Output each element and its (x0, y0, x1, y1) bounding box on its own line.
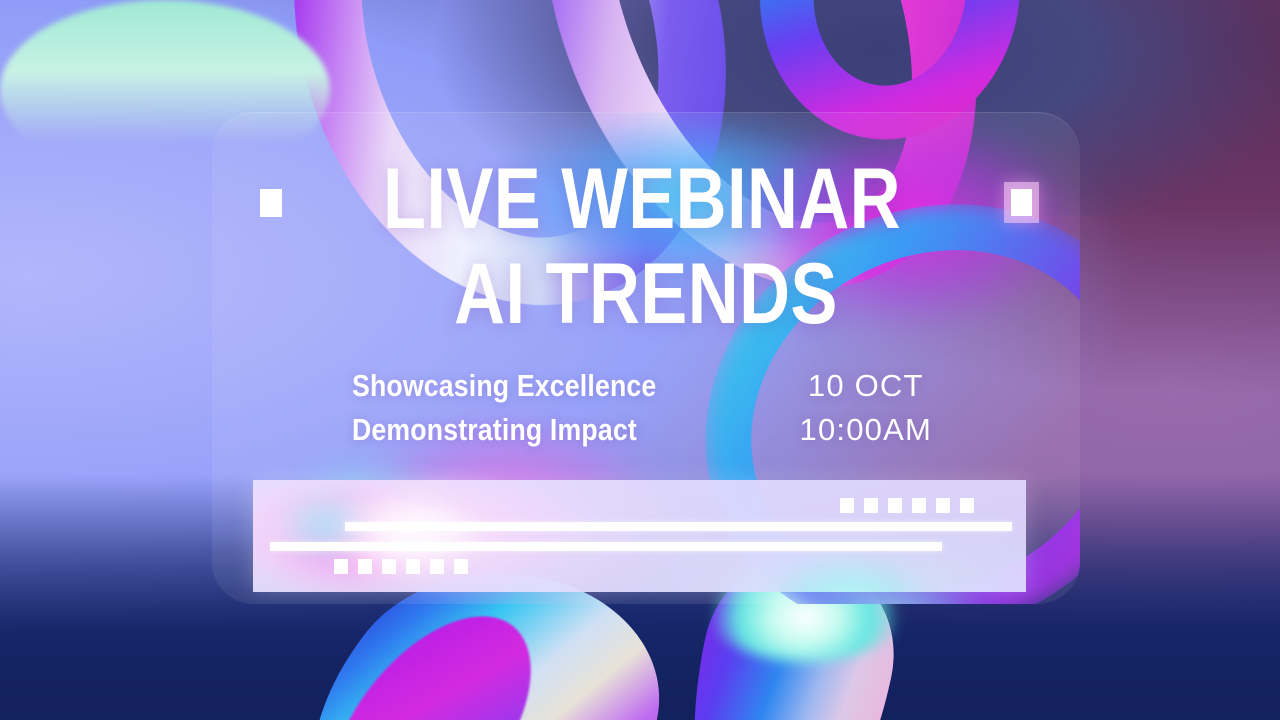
headline-primary: LIVE WEBINAR (382, 160, 900, 239)
headline-secondary: AI TRENDS (290, 255, 1002, 334)
glass-card: LIVE WEBINAR AI TRENDS Showcasing Excell… (212, 112, 1080, 604)
subtitle-line-2: Demonstrating Impact (352, 408, 696, 452)
headline-row: LIVE WEBINAR (212, 160, 1080, 239)
dot-marker (888, 498, 902, 513)
dot-marker (936, 498, 950, 513)
dot-marker (358, 559, 372, 574)
dot-marker (840, 498, 854, 513)
panel-dots-bottom-left (334, 559, 468, 574)
dot-marker (406, 559, 420, 574)
subtitle-block: Showcasing Excellence Demonstrating Impa… (352, 364, 752, 452)
panel-dots-top-right (840, 498, 974, 513)
webinar-poster: LIVE WEBINAR AI TRENDS Showcasing Excell… (0, 0, 1280, 720)
dot-marker (864, 498, 878, 513)
square-marker-icon (260, 189, 282, 217)
glowing-square-marker-icon (1011, 189, 1032, 216)
dot-marker (454, 559, 468, 574)
dot-marker (334, 559, 348, 574)
info-panel (253, 480, 1026, 592)
dot-marker (430, 559, 444, 574)
event-date: 10 OCT (800, 364, 932, 408)
event-time: 10:00AM (800, 408, 932, 452)
panel-bar-lower (270, 542, 942, 551)
subtitle-line-1: Showcasing Excellence (352, 364, 696, 408)
dot-marker (912, 498, 926, 513)
dot-marker (382, 559, 396, 574)
panel-bar-upper (345, 522, 1012, 531)
schedule-block: 10 OCT 10:00AM (800, 364, 932, 452)
dot-marker (960, 498, 974, 513)
panel-white-glow (303, 480, 503, 592)
card-content: LIVE WEBINAR AI TRENDS Showcasing Excell… (212, 112, 1080, 604)
